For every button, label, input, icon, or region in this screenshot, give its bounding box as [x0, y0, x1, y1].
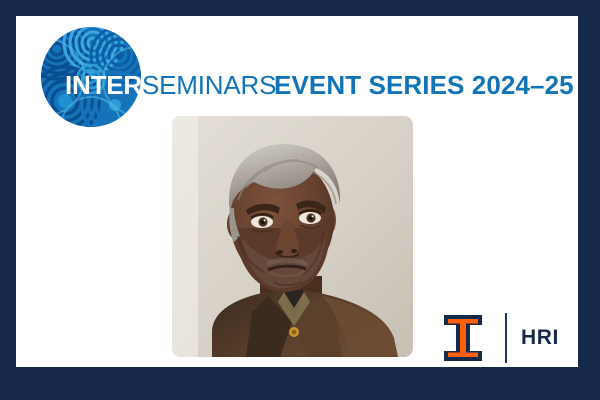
- wordmark-seminars: SEMINARS: [142, 70, 276, 100]
- unit-label-hri: HRI: [521, 325, 559, 351]
- poster-header: INTERSEMINARS EVENT SERIES 2024–25: [16, 16, 578, 128]
- event-series-title: EVENT SERIES 2024–25: [274, 70, 574, 100]
- wordmark-inter: INTER: [65, 70, 142, 100]
- poster-canvas: INTERSEMINARS EVENT SERIES 2024–25: [0, 0, 600, 400]
- vertical-divider: [505, 313, 507, 363]
- interseminars-wordmark: INTERSEMINARS: [65, 70, 276, 100]
- poster-card: INTERSEMINARS EVENT SERIES 2024–25: [16, 16, 578, 367]
- speaker-portrait-photo: [172, 116, 413, 357]
- illinois-block-i-logo: [441, 312, 485, 364]
- illinois-hri-lockup: HRI: [441, 312, 561, 364]
